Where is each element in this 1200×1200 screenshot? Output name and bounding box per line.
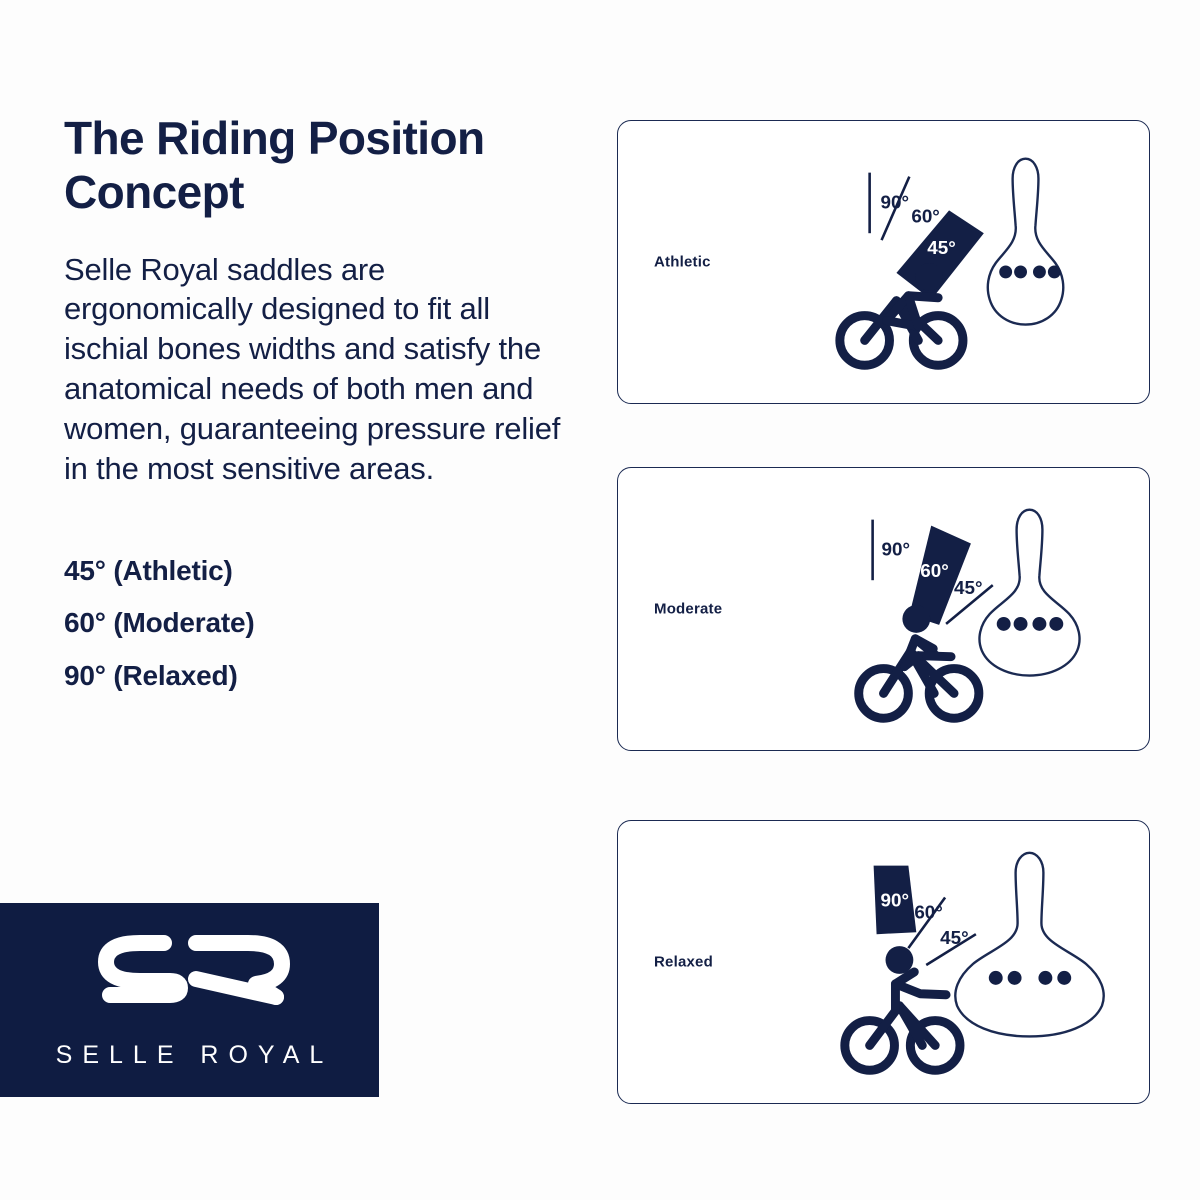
ischial-dot-2 <box>1014 617 1028 631</box>
cyclist-moderate <box>859 639 979 718</box>
figure-relaxed: 90° 60° 45° <box>768 821 1151 1103</box>
position-card-athletic[interactable]: Athletic 90° 60° 45° <box>617 120 1150 404</box>
page-title: The Riding Position Concept <box>64 112 564 220</box>
ischial-dot-4 <box>1048 265 1061 278</box>
body-paragraph: Selle Royal saddles are ergonomically de… <box>64 250 574 489</box>
angle-text-90: 90° <box>882 538 911 559</box>
angle-text-60: 60° <box>911 205 940 226</box>
text-column: The Riding Position Concept Selle Royal … <box>64 112 584 702</box>
angle-text-60: 60° <box>920 560 949 581</box>
angle-legend-item-relaxed: 90° (Relaxed) <box>64 650 584 703</box>
figure-athletic: 90° 60° 45° <box>768 121 1151 403</box>
position-card-relaxed[interactable]: Relaxed 90° 60° 45° <box>617 820 1150 1104</box>
angle-text-60: 60° <box>914 901 943 922</box>
ischial-dot-1 <box>997 617 1011 631</box>
saddle-moderate <box>979 510 1079 676</box>
ischial-dot-3 <box>1033 265 1046 278</box>
rider-arm <box>918 656 951 657</box>
sr-monogram-icon <box>70 931 310 1031</box>
angle-indicator-relaxed: 90° 60° 45° <box>874 866 976 965</box>
saddle-outline <box>955 853 1103 1037</box>
card-label-athletic: Athletic <box>654 254 711 271</box>
brand-wordmark: SELLE ROYAL <box>46 1041 334 1070</box>
angle-legend-item-athletic: 45° (Athletic) <box>64 545 584 598</box>
angle-text-45: 45° <box>940 927 969 948</box>
saddle-outline <box>988 159 1063 325</box>
ischial-dot-1 <box>999 265 1012 278</box>
saddle-outline <box>979 510 1079 676</box>
angle-legend-list: 45° (Athletic) 60° (Moderate) 90° (Relax… <box>64 545 584 703</box>
ischial-dot-4 <box>1057 971 1071 985</box>
ischial-dot-4 <box>1049 617 1063 631</box>
rider-head <box>902 605 930 633</box>
cyclist-relaxed <box>845 972 960 1070</box>
angle-text-45: 45° <box>954 577 983 598</box>
ischial-dot-3 <box>1032 617 1046 631</box>
cyclist-athletic <box>840 296 963 366</box>
ischial-dot-3 <box>1038 971 1052 985</box>
card-label-moderate: Moderate <box>654 601 722 618</box>
angle-legend-item-moderate: 60° (Moderate) <box>64 597 584 650</box>
rider-head <box>915 263 943 291</box>
ischial-dot-1 <box>989 971 1003 985</box>
angle-text-45: 45° <box>927 237 956 258</box>
angle-indicator-moderate: 90° 60° 45° <box>873 520 993 625</box>
rider-head <box>886 946 914 974</box>
rider-arm <box>895 984 946 995</box>
angle-text-90: 90° <box>881 191 910 212</box>
saddle-athletic <box>988 159 1063 325</box>
card-label-relaxed: Relaxed <box>654 954 713 971</box>
angle-text-90: 90° <box>881 889 910 910</box>
figure-moderate: 90° 60° 45° <box>768 468 1151 750</box>
brand-logo-block: SELLE ROYAL <box>0 903 379 1097</box>
poster-root: The Riding Position Concept Selle Royal … <box>0 0 1200 1200</box>
saddle-relaxed <box>955 853 1103 1037</box>
position-card-moderate[interactable]: Moderate 90° 60° 45° <box>617 467 1150 751</box>
ischial-dot-2 <box>1008 971 1022 985</box>
ischial-dot-2 <box>1014 265 1027 278</box>
